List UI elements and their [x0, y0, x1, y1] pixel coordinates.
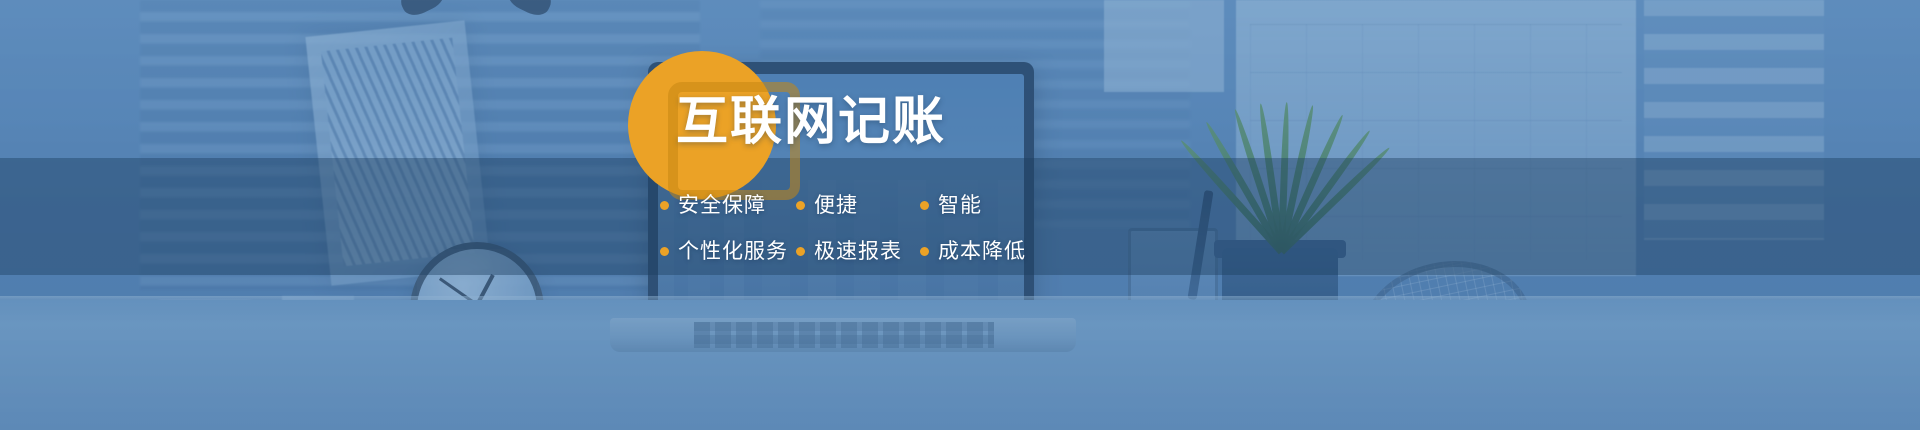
feature-item-cost-reduction: 成本降低 — [920, 241, 1040, 262]
feature-item-security: 安全保障 — [660, 195, 796, 216]
feature-label: 智能 — [938, 195, 982, 216]
feature-label: 极速报表 — [814, 241, 902, 262]
feature-item-personalized-service: 个性化服务 — [660, 241, 796, 262]
feature-row: 安全保障 便捷 智能 — [660, 182, 1080, 228]
feature-label: 成本降低 — [938, 241, 1026, 262]
feature-item-intelligent: 智能 — [920, 195, 1040, 216]
orange-dot-icon — [660, 201, 669, 210]
feature-label: 便捷 — [814, 195, 858, 216]
orange-dot-icon — [796, 201, 805, 210]
feature-item-fast-reports: 极速报表 — [796, 241, 920, 262]
orange-dot-icon — [660, 247, 669, 256]
orange-dot-icon — [796, 247, 805, 256]
feature-label: 个性化服务 — [678, 241, 788, 262]
feature-list: 安全保障 便捷 智能 个性化服务 极速报表 — [660, 182, 1080, 274]
orange-dot-icon — [920, 201, 929, 210]
feature-row: 个性化服务 极速报表 成本降低 — [660, 228, 1080, 274]
orange-dot-icon — [920, 247, 929, 256]
promo-banner: 互联网记账 安全保障 便捷 智能 个性化服务 — [0, 0, 1920, 430]
feature-label: 安全保障 — [678, 195, 766, 216]
feature-item-convenient: 便捷 — [796, 195, 920, 216]
banner-title: 互联网记账 — [676, 90, 946, 154]
banner-content: 互联网记账 安全保障 便捷 智能 个性化服务 — [0, 0, 1920, 430]
